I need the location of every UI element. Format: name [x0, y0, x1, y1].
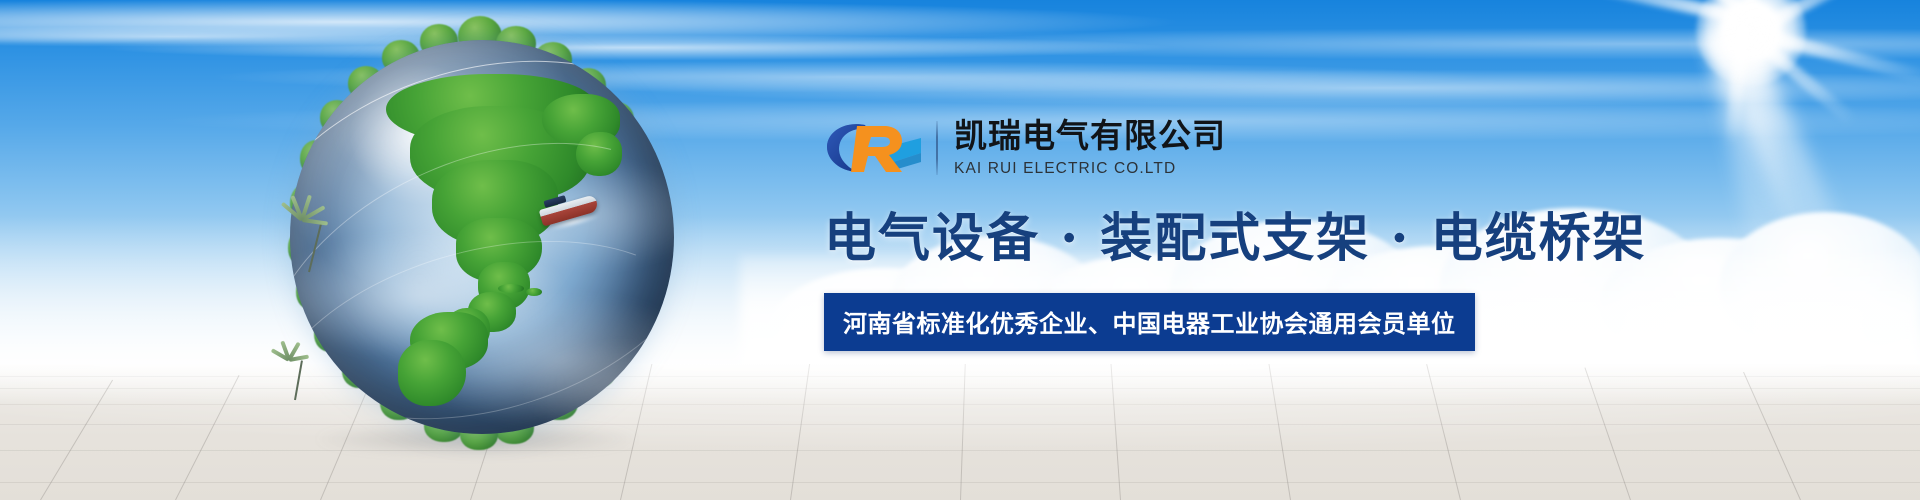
headline-text: 电气设备 · 装配式支架 · 电缆桥架 — [824, 208, 1524, 269]
green-earth-globe-icon — [272, 22, 692, 452]
banner-content: 凯瑞电气有限公司 KAI RUI ELECTRIC CO.LTD 电气设备 · … — [824, 112, 1524, 351]
company-name-cn: 凯瑞电气有限公司 — [954, 118, 1226, 155]
globe-sphere — [290, 40, 674, 434]
brand-lockup[interactable]: 凯瑞电气有限公司 KAI RUI ELECTRIC CO.LTD — [824, 112, 1524, 184]
brand-divider — [936, 121, 938, 175]
brand-text: 凯瑞电气有限公司 KAI RUI ELECTRIC CO.LTD — [954, 118, 1226, 178]
hero-banner: 凯瑞电气有限公司 KAI RUI ELECTRIC CO.LTD 电气设备 · … — [0, 0, 1920, 500]
company-name-en: KAI RUI ELECTRIC CO.LTD — [954, 160, 1226, 178]
cr-monogram-icon — [824, 116, 924, 180]
credential-ribbon: 河南省标准化优秀企业、中国电器工业协会通用会员单位 — [824, 293, 1475, 351]
